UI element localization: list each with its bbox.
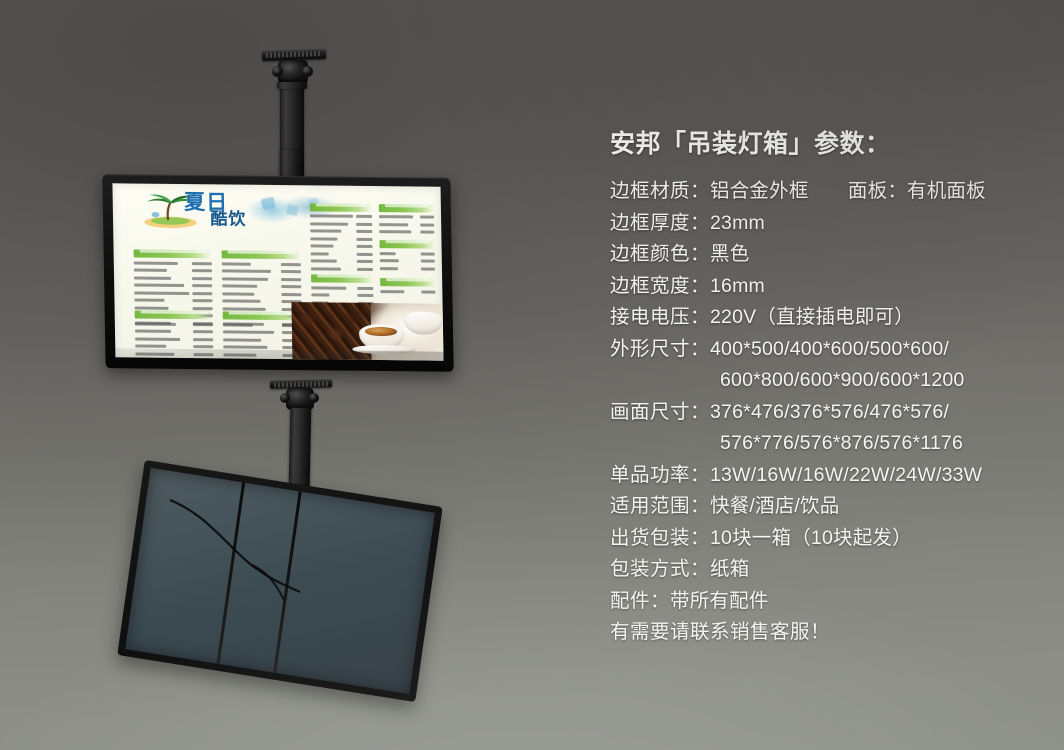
menu-item-row — [222, 283, 301, 290]
menu-item-row — [134, 267, 213, 274]
menu-section-header — [310, 203, 372, 212]
spec-row: 适用范围：快餐/酒店/饮品 — [610, 491, 1040, 523]
menu-item-row — [380, 265, 436, 272]
spec-key: 包装方式： — [610, 558, 710, 580]
swivel-knob-right — [309, 393, 319, 403]
menu-headline: 夏日 酷饮 — [184, 192, 247, 229]
menu-item-row — [134, 321, 213, 328]
menu-item-row — [135, 336, 214, 343]
menu-item-row — [310, 213, 372, 220]
spec-value: 铝合金外框 面板：有机面板 — [710, 180, 986, 202]
menu-column-right-3 — [379, 238, 435, 273]
menu-item-row — [134, 297, 213, 304]
spec-key: 配件： — [610, 590, 670, 612]
spec-value: 220V（直接插电即可） — [710, 306, 914, 328]
spec-value: 600*800/600*900/600*1200 — [720, 369, 964, 391]
spec-row: 边框厚度：23mm — [610, 208, 1040, 240]
spec-row-continuation: 576*776/576*876/576*1176 — [610, 428, 1040, 460]
back-panel-face — [125, 468, 435, 694]
panel-seam-right — [273, 491, 302, 673]
menu-item-row — [133, 260, 212, 267]
menu-section-header — [378, 204, 434, 213]
spec-value: 13W/16W/16W/22W/24W/33W — [710, 464, 982, 486]
spec-row: 单品功率：13W/16W/16W/22W/24W/33W — [610, 460, 1040, 492]
spec-value: 376*476/376*576/476*576/ — [710, 401, 949, 423]
spec-row-continuation: 600*800/600*900/600*1200 — [610, 365, 1040, 397]
menu-item-row — [223, 291, 302, 298]
lightbox-back-panel[interactable] — [117, 460, 443, 702]
menu-item-row — [223, 337, 302, 344]
menu-item-row — [311, 292, 373, 299]
ice-cube-icon — [286, 204, 299, 216]
menu-section-header — [133, 250, 212, 259]
menu-item-row — [222, 268, 301, 275]
plate-ridges — [274, 381, 328, 387]
menu-screen: 夏日 酷饮 — [112, 183, 443, 360]
panel-seam-left — [216, 482, 245, 664]
spec-key: 出货包装： — [610, 527, 710, 549]
menu-item-row — [379, 221, 435, 228]
spec-value: 带所有配件 — [670, 590, 769, 612]
menu-item-row — [134, 282, 213, 289]
specification-panel: 安邦「吊装灯箱」参数： 边框材质：铝合金外框 面板：有机面板 边框厚度：23mm… — [610, 124, 1040, 649]
swivel-knob-left — [272, 66, 283, 77]
pole-collar — [277, 82, 307, 89]
menu-item-row — [380, 289, 436, 296]
menu-item-row — [379, 250, 435, 257]
spec-row: 出货包装：10块一箱（10块起发） — [610, 523, 1040, 555]
spec-key: 适用范围： — [610, 495, 710, 517]
contact-note-text: 有需要请联系销售客服！ — [610, 621, 830, 643]
contact-note: 有需要请联系销售客服！ — [610, 617, 1040, 649]
menu-item-row — [310, 251, 372, 258]
product-photo-scene: 夏日 酷饮 — [0, 0, 1064, 750]
spec-key: 边框材质： — [610, 180, 710, 202]
menu-column-right-2 — [378, 202, 434, 237]
spec-row: 边框颜色：黑色 — [610, 239, 1040, 271]
spec-value: 400*500/400*600/500*600/ — [710, 338, 949, 360]
spec-key: 画面尺寸： — [610, 401, 710, 423]
menu-item-row — [310, 221, 372, 228]
menu-item-row — [222, 261, 301, 268]
menu-item-row — [222, 276, 301, 283]
lightbox-display[interactable]: 夏日 酷饮 — [102, 174, 454, 372]
spec-key: 外形尺寸： — [610, 338, 710, 360]
menu-item-row — [311, 266, 373, 273]
menu-section-header — [380, 279, 436, 288]
coffee-cup-back — [403, 311, 443, 334]
swivel-knob-left — [280, 393, 290, 403]
page-title: 安邦「吊装灯箱」参数： — [610, 124, 1040, 160]
spec-key: 接电电压： — [610, 306, 710, 328]
menu-item-row — [223, 329, 302, 336]
menu-section-header — [134, 311, 213, 320]
swivel-knob-right — [302, 66, 313, 77]
spec-key: 边框宽度： — [610, 275, 710, 297]
menu-item-row — [310, 243, 372, 250]
plate-ridges — [266, 51, 322, 58]
spec-value: 23mm — [710, 212, 765, 234]
crema — [365, 327, 398, 336]
spec-value: 10块一箱（10块起发） — [710, 527, 912, 549]
spec-value: 16mm — [710, 275, 765, 297]
spec-row: 边框材质：铝合金外框 面板：有机面板 — [610, 176, 1040, 208]
spec-value: 纸箱 — [710, 558, 749, 580]
menu-column-right — [310, 201, 374, 274]
menu-column-right-5 — [380, 277, 436, 297]
menu-section-header — [222, 251, 301, 260]
spec-row: 画面尺寸：376*476/376*576/476*576/ — [610, 397, 1040, 429]
menu-item-row — [311, 258, 373, 265]
spec-row: 接电电压：220V（直接插电即可） — [610, 302, 1040, 334]
menu-section-header — [311, 274, 373, 283]
menu-item-row — [311, 284, 373, 291]
spec-key: 边框厚度： — [610, 212, 710, 234]
spec-row: 外形尺寸：400*500/400*600/500*600/ — [610, 334, 1040, 366]
spec-row: 配件：带所有配件 — [610, 586, 1040, 618]
menu-item-row — [379, 214, 435, 221]
menu-item-row — [135, 328, 214, 335]
spec-key: 单品功率： — [610, 464, 710, 486]
menu-section-header — [379, 240, 435, 249]
spec-value: 576*776/576*876/576*1176 — [720, 432, 963, 454]
menu-item-row — [310, 228, 372, 235]
menu-item-row — [134, 275, 213, 282]
spec-key: 边框颜色： — [610, 243, 710, 265]
menu-item-row — [223, 322, 302, 329]
spec-row: 边框宽度：16mm — [610, 271, 1040, 303]
menu-item-row — [134, 290, 213, 297]
ice-cube-icon — [260, 197, 275, 210]
menu-item-row — [223, 298, 302, 305]
menu-section-header — [223, 312, 302, 321]
spec-value: 快餐/酒店/饮品 — [710, 495, 839, 517]
spec-value: 黑色 — [710, 243, 749, 265]
menu-title-art: 夏日 酷饮 — [142, 189, 333, 250]
menu-item-row — [310, 236, 372, 243]
menu-item-row — [379, 229, 435, 236]
spec-row: 包装方式：纸箱 — [610, 554, 1040, 586]
menu-item-row — [379, 258, 435, 265]
